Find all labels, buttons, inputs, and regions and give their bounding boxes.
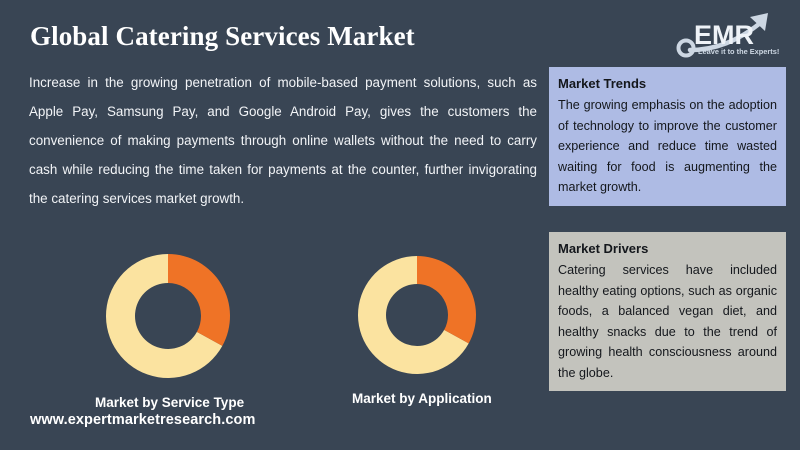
market-drivers-box: Market Drivers Catering services have in… — [549, 232, 786, 391]
market-by-application-chart: Market by Application — [352, 252, 492, 406]
footer-website-url: www.expertmarketresearch.com — [30, 412, 256, 428]
market-by-service-type-label: Market by Service Type — [95, 395, 244, 410]
donut-chart-application-icon — [352, 252, 482, 380]
market-drivers-title: Market Drivers — [558, 239, 777, 258]
page-title: Global Catering Services Market — [30, 22, 530, 52]
market-trends-title: Market Trends — [558, 74, 777, 93]
emr-logo: EMR Leave it to the Experts! — [672, 8, 792, 60]
slide-canvas: EMR Leave it to the Experts! Global Cate… — [0, 0, 800, 450]
market-by-service-type-chart: Market by Service Type — [95, 250, 244, 410]
market-by-application-label: Market by Application — [352, 391, 492, 406]
donut-chart-service-type-icon — [95, 250, 241, 384]
donut-slice — [168, 254, 230, 346]
market-trends-box: Market Trends The growing emphasis on th… — [549, 67, 786, 206]
market-trends-text: The growing emphasis on the adoption of … — [558, 95, 777, 198]
svg-text:EMR: EMR — [694, 20, 754, 50]
donut-slice — [417, 256, 476, 343]
logo-tagline: Leave it to the Experts! — [698, 47, 779, 56]
emr-logo-icon: EMR Leave it to the Experts! — [672, 8, 792, 60]
market-drivers-text: Catering services have included healthy … — [558, 260, 777, 383]
intro-paragraph: Increase in the growing penetration of m… — [29, 68, 537, 213]
